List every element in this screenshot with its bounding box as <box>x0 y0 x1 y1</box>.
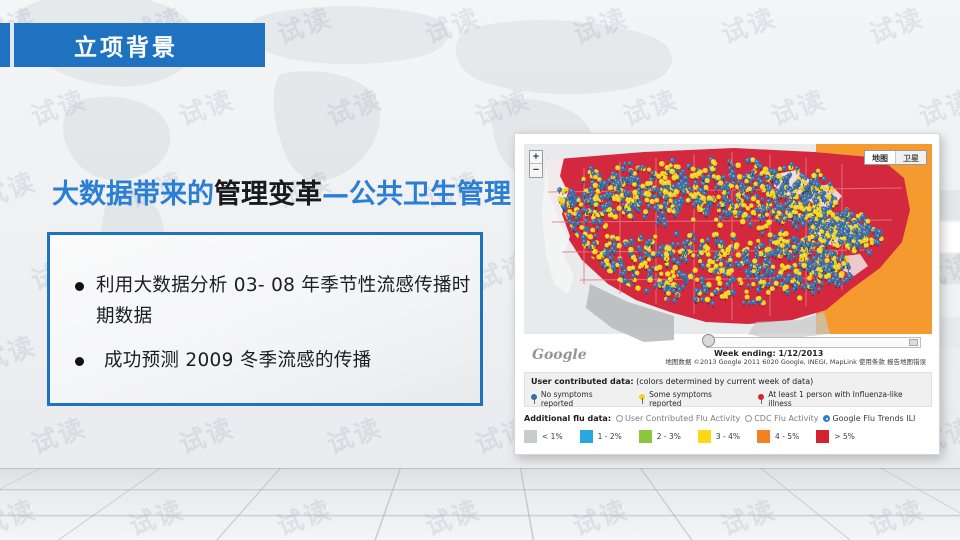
scale-item: 4 - 5% <box>757 430 799 443</box>
week-slider-knob[interactable] <box>702 334 715 347</box>
page-title: 立项背景 <box>74 28 178 62</box>
scale-label: 4 - 5% <box>775 432 799 441</box>
subtitle-part-3: —公共卫生管理 <box>322 179 511 210</box>
scale-item: < 1% <box>524 430 563 443</box>
week-ending-label: Week ending: 1/12/2013 <box>714 349 823 358</box>
map-type-map-button[interactable]: 地图 <box>865 151 895 164</box>
scale-swatch <box>524 430 537 443</box>
user-legend-title-bold: User contributed data: <box>531 377 634 386</box>
user-contributed-legend: User contributed data: (colors determine… <box>524 372 932 407</box>
radio-option-user-contributed[interactable]: User Contributed Flu Activity <box>616 414 740 423</box>
scale-swatch <box>757 430 770 443</box>
scale-swatch <box>698 430 711 443</box>
subtitle-part-2: 管理变革 <box>214 179 322 210</box>
scale-swatch <box>580 430 593 443</box>
user-legend-items: No symptoms reported Some symptoms repor… <box>531 390 925 408</box>
bullet-panel: 利用大数据分析 03- 08 年季节性流感传播时期数据 成功预测 2009 冬季… <box>47 232 483 406</box>
radio-label: User Contributed Flu Activity <box>625 414 740 423</box>
scale-item: > 5% <box>816 430 855 443</box>
subtitle-part-1: 大数据带来的 <box>52 179 214 210</box>
additional-legend-title: Additional flu data: <box>524 414 611 423</box>
bullet-text: 利用大数据分析 03- 08 年季节性流感传播时期数据 <box>96 271 475 332</box>
scale-label: 3 - 4% <box>716 432 740 441</box>
scale-swatch <box>816 430 829 443</box>
google-logo: Google <box>532 347 587 363</box>
scale-label: 1 - 2% <box>598 432 622 441</box>
list-item: 利用大数据分析 03- 08 年季节性流感传播时期数据 <box>75 271 475 332</box>
scale-item: 1 - 2% <box>580 430 622 443</box>
slide-subtitle: 大数据带来的管理变革—公共卫生管理 <box>52 172 511 211</box>
radio-icon-selected[interactable] <box>823 415 830 422</box>
user-legend-title: User contributed data: (colors determine… <box>531 377 925 386</box>
map-canvas[interactable] <box>524 144 932 366</box>
radio-option-cdc[interactable]: CDC Flu Activity <box>745 414 818 423</box>
pin-blue-icon <box>531 394 537 404</box>
scale-label: < 1% <box>542 432 563 441</box>
map-type-toggle[interactable]: 地图 卫星 <box>864 150 927 165</box>
scale-swatch <box>639 430 652 443</box>
additional-flu-data-legend: Additional flu data: User Contributed Fl… <box>524 414 932 446</box>
list-item: 成功预测 2009 冬季流感的传播 <box>75 346 475 377</box>
radio-icon[interactable] <box>616 415 623 422</box>
week-slider-end-handle[interactable] <box>909 339 918 346</box>
title-accent-rule <box>10 23 14 67</box>
radio-icon[interactable] <box>745 415 752 422</box>
radio-option-google-flu-trends[interactable]: Google Flu Trends ILI <box>823 414 915 423</box>
user-legend-item-label: No symptoms reported <box>541 390 626 408</box>
pin-red-icon <box>758 394 764 404</box>
radio-label: Google Flu Trends ILI <box>832 414 915 423</box>
scale-label: > 5% <box>834 432 855 441</box>
color-scale-legend: < 1% 1 - 2% 2 - 3% 3 - 4% 4 - 5% <box>524 430 932 443</box>
flu-trends-map-card: + − 地图 卫星 Google Week ending: 1/12/2013 … <box>514 133 940 455</box>
bullet-text: 成功预测 2009 冬季流感的传播 <box>104 346 371 377</box>
zoom-in-button[interactable]: + <box>530 151 542 164</box>
bullet-dot-icon <box>75 282 84 291</box>
additional-options-row: Additional flu data: User Contributed Fl… <box>524 414 932 423</box>
user-legend-item-label: At least 1 person with Influenza-like il… <box>768 390 925 408</box>
background-floor <box>0 468 960 540</box>
radio-label: CDC Flu Activity <box>754 414 818 423</box>
presentation-slide: 立项背景 大数据带来的管理变革—公共卫生管理 利用大数据分析 03- 08 年季… <box>0 0 960 540</box>
zoom-out-button[interactable]: − <box>530 164 542 177</box>
user-legend-item-label: Some symptoms reported <box>649 390 744 408</box>
bullet-dot-icon <box>75 357 84 366</box>
scale-item: 2 - 3% <box>639 430 681 443</box>
user-legend-title-rest: (colors determined by current week of da… <box>634 377 814 386</box>
week-slider-track[interactable] <box>706 337 921 348</box>
pin-yellow-icon <box>639 394 645 404</box>
map-viewport[interactable]: + − 地图 卫星 Google Week ending: 1/12/2013 … <box>524 144 932 366</box>
scale-item: 3 - 4% <box>698 430 740 443</box>
map-type-satellite-button[interactable]: 卫星 <box>895 151 926 164</box>
slide-title-bar: 立项背景 <box>0 23 265 67</box>
scale-label: 2 - 3% <box>657 432 681 441</box>
map-zoom-controls[interactable]: + − <box>529 150 543 178</box>
bullet-list: 利用大数据分析 03- 08 年季节性流感传播时期数据 成功预测 2009 冬季… <box>75 271 475 391</box>
